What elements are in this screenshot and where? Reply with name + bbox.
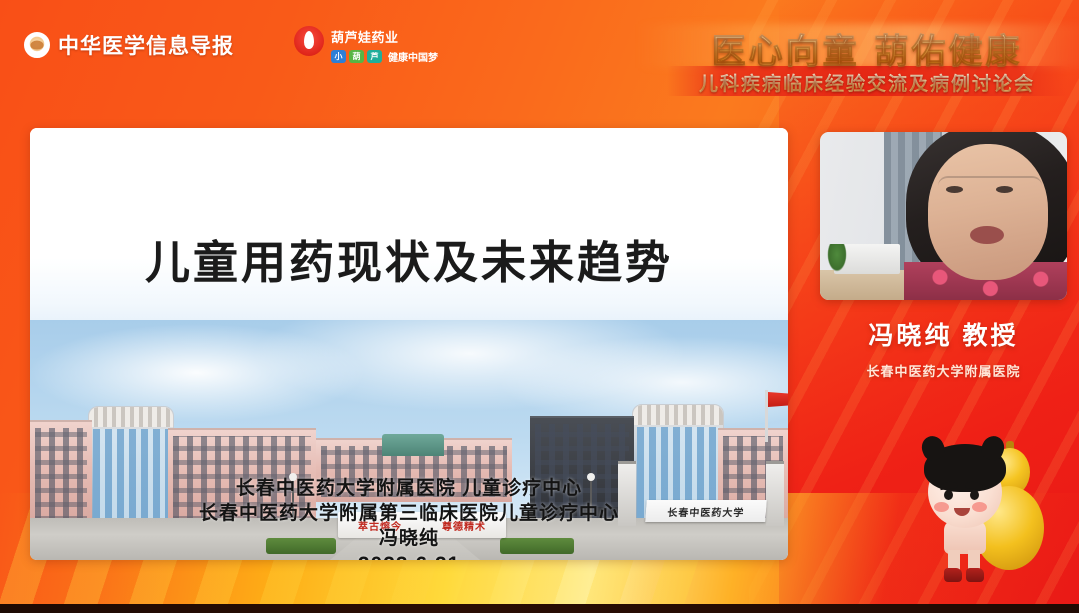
calabash-boy-mascot xyxy=(918,438,1066,584)
mascot-eye-left xyxy=(944,490,953,500)
event-banner: 医心向童 葫佑健康 儿科疾病临床经验交流及病例讨论会 xyxy=(667,14,1067,98)
slide-subtitle-line-1: 长春中医药大学附属医院 儿童诊疗中心 xyxy=(30,476,788,501)
speaker-info: 冯晓纯 教授 长春中医药大学附属医院 xyxy=(820,316,1067,380)
logo-calabash-text-column: 葫芦娃药业 小 葫 芦 健康中国梦 xyxy=(331,26,438,64)
slide-subtitle-line-3: 冯晓纯 xyxy=(30,526,788,551)
slide-subtitle-line-2: 长春中医药大学附属第三临床医院儿童诊疗中心 xyxy=(30,501,788,526)
logo-cma-label: 中华医学信息导报 xyxy=(58,30,234,60)
mascot-cheek-left xyxy=(934,502,949,512)
banner-subtitle: 儿科疾病临床经验交流及病例讨论会 xyxy=(667,69,1067,96)
logo-calabash-pharma: 葫芦娃药业 小 葫 芦 健康中国梦 xyxy=(294,26,438,64)
mascot-cheek-right xyxy=(972,502,987,512)
calabash-brand-icon xyxy=(294,26,324,56)
logo-cma-information-herald: 中华医学信息导报 xyxy=(24,30,234,60)
mascot-eye-right xyxy=(970,490,979,500)
presentation-slide[interactable]: 儿童用药现状及未来趋势 萃古熔今 尊德精术 xyxy=(30,128,788,560)
presenter-video-panel[interactable] xyxy=(820,132,1067,300)
mascot-boot-right xyxy=(966,568,984,582)
presenter-face xyxy=(928,144,1048,280)
speaker-name: 冯晓纯 教授 xyxy=(820,316,1067,352)
logo-calabash-chip-row: 小 葫 芦 健康中国梦 xyxy=(331,49,438,64)
medical-seal-icon xyxy=(24,32,50,58)
mascot-boot-left xyxy=(944,568,962,582)
banner-title: 医心向童 葫佑健康 xyxy=(667,24,1067,73)
presenter-eye-left xyxy=(946,186,963,193)
slide-title: 儿童用药现状及未来趋势 xyxy=(30,226,788,291)
video-plant xyxy=(826,244,848,274)
logo-chip-1: 小 xyxy=(331,50,346,63)
slide-date: 2023.6.21 xyxy=(30,551,788,560)
speaker-organization: 长春中医药大学附属医院 xyxy=(820,361,1067,380)
logo-calabash-title: 葫芦娃药业 xyxy=(331,27,438,46)
photo-flag-icon xyxy=(765,390,768,442)
broadcast-stage: 中华医学信息导报 葫芦娃药业 小 葫 芦 健康中国梦 医心向童 葫佑健康 儿科疾… xyxy=(0,0,1079,613)
presenter-mouth xyxy=(970,226,1004,244)
slide-subtitle-block: 长春中医药大学附属医院 儿童诊疗中心 长春中医药大学附属第三临床医院儿童诊疗中心… xyxy=(30,476,788,560)
photo-center-roof-feature xyxy=(382,434,444,456)
logo-chip-2: 葫 xyxy=(349,50,364,63)
logo-calabash-subtitle: 健康中国梦 xyxy=(388,49,438,64)
presenter-eye-right xyxy=(996,186,1013,193)
logo-chip-3: 芦 xyxy=(367,50,382,63)
header-logos: 中华医学信息导报 葫芦娃药业 小 葫 芦 健康中国梦 xyxy=(24,26,438,64)
background-bottom-edge xyxy=(0,604,1079,613)
